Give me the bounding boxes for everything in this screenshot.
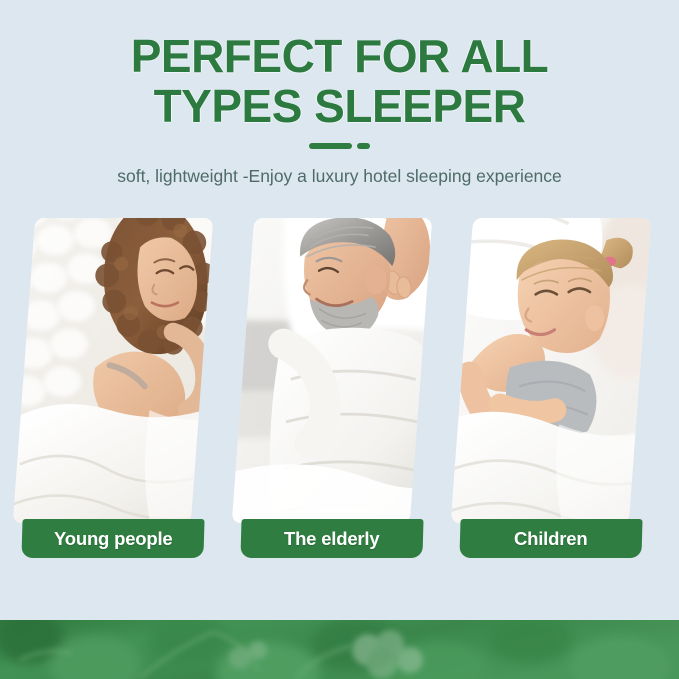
photo-frame-young-people [13, 218, 213, 523]
footer-foliage-texture [0, 620, 679, 679]
elderly-man-illustration [232, 218, 432, 523]
photo-elderly-man-sleeping [232, 218, 432, 523]
young-woman-illustration [13, 218, 213, 523]
header: PERFECT FOR ALL TYPES SLEEPER soft, ligh… [0, 0, 679, 187]
persona-label-young-people: Young people [54, 528, 173, 550]
photo-young-woman-sleeping [13, 218, 213, 523]
headline-line-2: TYPES SLEEPER [0, 83, 679, 129]
photo-toddler-sleeping [451, 218, 651, 523]
divider-short-dash [357, 143, 370, 149]
persona-card-row: Young people [0, 218, 679, 564]
headline-line-1: PERFECT FOR ALL [131, 30, 549, 82]
persona-card-the-elderly: The elderly [243, 218, 421, 564]
photo-frame-the-elderly [232, 218, 432, 523]
photo-frame-children [451, 218, 651, 523]
persona-label-the-elderly: The elderly [284, 528, 379, 550]
foliage-illustration [0, 620, 679, 679]
divider-long-dash [309, 143, 352, 149]
persona-label-children: Children [514, 528, 587, 550]
subtitle: soft, lightweight -Enjoy a luxury hotel … [0, 149, 679, 187]
page-title: PERFECT FOR ALL TYPES SLEEPER [0, 0, 679, 129]
persona-card-young-people: Young people [24, 218, 202, 564]
promotional-banner: PERFECT FOR ALL TYPES SLEEPER soft, ligh… [0, 0, 679, 679]
toddler-illustration [451, 218, 651, 523]
persona-label-plate-the-elderly: The elderly [240, 519, 423, 558]
persona-label-plate-children: Children [459, 519, 642, 558]
persona-label-plate-young-people: Young people [21, 519, 204, 558]
persona-card-children: Children [462, 218, 640, 564]
